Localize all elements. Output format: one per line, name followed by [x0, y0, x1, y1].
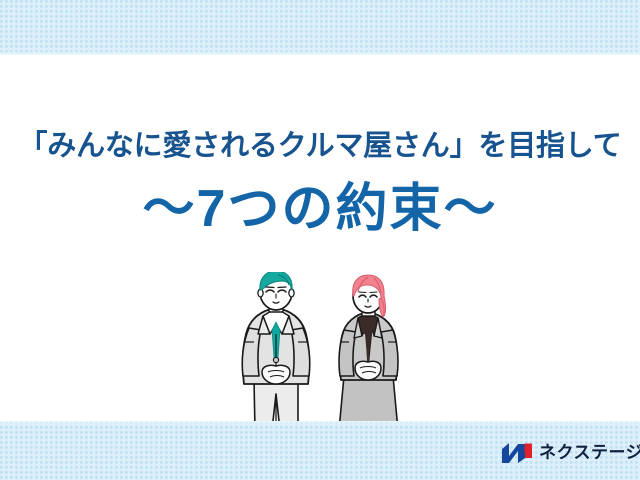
male-staff-figure [242, 272, 310, 430]
staff-illustration [232, 272, 422, 432]
headline-secondary: 〜7つの約束〜 [0, 178, 640, 240]
brand-logo-text: ネクステージ [539, 443, 640, 463]
nextage-n-mark [502, 443, 532, 464]
top-decorative-band [0, 0, 640, 55]
promo-banner: 「みんなに愛されるクルマ屋さん」を目指して 〜7つの約束〜 [0, 0, 640, 480]
female-staff-figure [339, 275, 398, 430]
brand-logo: ネクステージ [502, 440, 640, 466]
headline-primary: 「みんなに愛されるクルマ屋さん」を目指して [0, 128, 640, 164]
